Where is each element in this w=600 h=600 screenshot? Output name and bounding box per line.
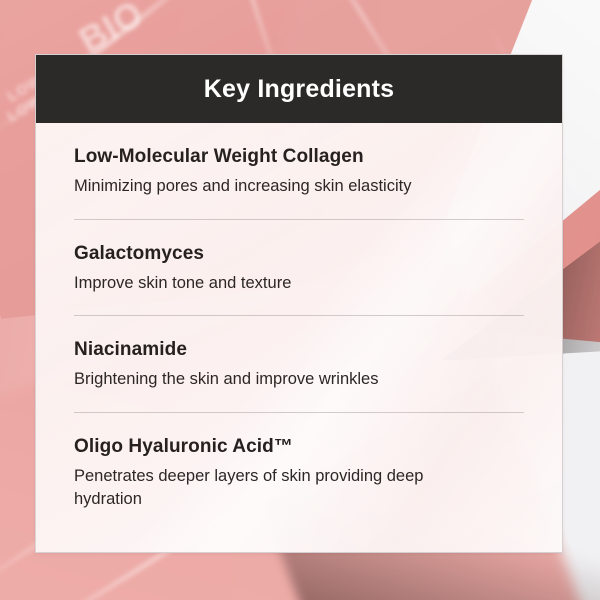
ingredient-name: Galactomyces xyxy=(74,242,524,265)
ingredients-list: Low-Molecular Weight Collagen Minimizing… xyxy=(36,123,562,532)
list-item: Oligo Hyaluronic Acid™ Penetrates deeper… xyxy=(74,412,524,532)
ingredient-name: Low-Molecular Weight Collagen xyxy=(74,145,524,168)
screenshot-stage: BIO LOW LOW MASK llagen OLIG Key Ingredi… xyxy=(0,0,600,600)
list-item: Niacinamide Brightening the skin and imp… xyxy=(74,315,524,412)
ingredient-name: Oligo Hyaluronic Acid™ xyxy=(74,435,524,458)
background-brand-text: BIO xyxy=(72,0,151,62)
ingredient-name: Niacinamide xyxy=(74,338,524,361)
key-ingredients-card: Key Ingredients Low-Molecular Weight Col… xyxy=(35,54,563,553)
list-item: Low-Molecular Weight Collagen Minimizing… xyxy=(74,123,524,219)
ingredient-description: Minimizing pores and increasing skin ela… xyxy=(74,175,474,198)
ingredient-description: Brightening the skin and improve wrinkle… xyxy=(74,368,474,391)
ingredient-description: Improve skin tone and texture xyxy=(74,272,474,295)
ingredient-description: Penetrates deeper layers of skin providi… xyxy=(74,465,474,512)
list-item: Galactomyces Improve skin tone and textu… xyxy=(74,219,524,316)
card-header: Key Ingredients xyxy=(36,55,562,123)
page-title: Key Ingredients xyxy=(204,75,395,104)
